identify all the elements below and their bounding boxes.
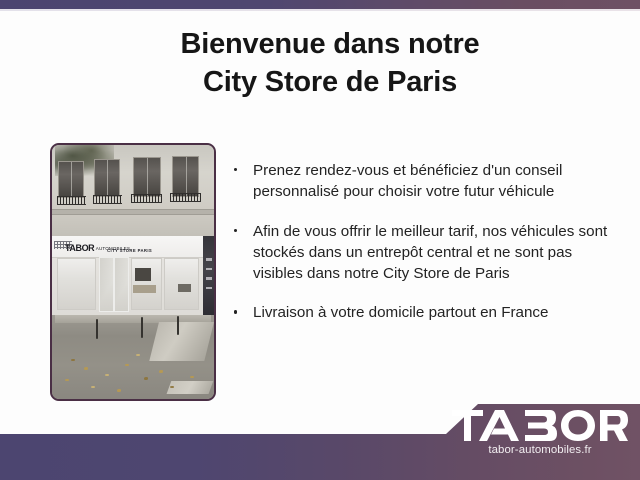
door-glass-sheen bbox=[100, 258, 113, 311]
interior-desk bbox=[133, 285, 156, 293]
window-upper-2 bbox=[94, 159, 120, 197]
page-title-line-1: Bienvenue dans notre bbox=[120, 26, 540, 64]
side-panel-mark-1 bbox=[206, 258, 212, 260]
bullet-item-2: Afin de vous offrir le meilleur tarif, n… bbox=[231, 221, 623, 285]
fallen-leaf bbox=[159, 370, 163, 373]
window-upper-3 bbox=[133, 157, 161, 197]
top-accent-hairline bbox=[0, 9, 640, 11]
side-panel-mark-3 bbox=[206, 277, 212, 279]
fallen-leaf bbox=[105, 374, 109, 377]
interior-furniture bbox=[178, 284, 191, 292]
bullet-item-1-text: Prenez rendez-vous et bénéficiez d'un co… bbox=[253, 162, 562, 200]
balcony-railing-2 bbox=[93, 195, 122, 203]
shop-door-right bbox=[114, 257, 129, 312]
street-bollard-1 bbox=[96, 319, 98, 339]
fallen-leaf bbox=[117, 389, 121, 392]
storefront-photo: TABORAUTOMOBILES CITY STORE PARIS bbox=[50, 143, 216, 401]
balcony-railing-4 bbox=[170, 193, 201, 201]
door-glass-sheen-2 bbox=[115, 258, 128, 311]
building-facade bbox=[52, 145, 214, 236]
bullet-item-1: Prenez rendez-vous et bénéficiez d'un co… bbox=[231, 160, 623, 203]
bullet-list: Prenez rendez-vous et bénéficiez d'un co… bbox=[231, 160, 623, 324]
street-bollard-2 bbox=[141, 317, 143, 338]
balcony-railing-3 bbox=[131, 194, 162, 202]
street-pavement bbox=[52, 315, 214, 399]
tabor-wordmark-icon bbox=[452, 410, 628, 441]
fallen-leaf bbox=[65, 379, 69, 382]
bullet-item-2-text: Afin de vous offrir le meilleur tarif, n… bbox=[253, 223, 607, 283]
bullet-marker-icon bbox=[234, 310, 237, 313]
street-bollard-3 bbox=[177, 316, 179, 335]
balcony-railing-1 bbox=[57, 196, 86, 204]
fallen-leaf bbox=[136, 354, 140, 357]
shop-window-left bbox=[57, 258, 96, 310]
page-title: Bienvenue dans notre City Store de Paris bbox=[120, 26, 540, 101]
top-accent-bar bbox=[0, 0, 640, 9]
fallen-leaf bbox=[190, 376, 194, 379]
fallen-leaf bbox=[91, 386, 95, 389]
shop-side-panel bbox=[203, 236, 214, 315]
interior-display-panel bbox=[135, 268, 151, 281]
page-title-line-2: City Store de Paris bbox=[120, 64, 540, 102]
brand-logo: tabor-automobiles.fr bbox=[452, 410, 628, 456]
website-url: tabor-automobiles.fr bbox=[452, 444, 628, 456]
bullet-marker-icon bbox=[234, 168, 237, 171]
fallen-leaf bbox=[144, 377, 148, 380]
bullet-item-3: Livraison à votre domicile partout en Fr… bbox=[231, 302, 623, 323]
shop-sign-brand: TABOR bbox=[65, 243, 94, 253]
facade-cornice bbox=[52, 209, 214, 215]
fallen-leaf bbox=[84, 367, 88, 370]
shop-door-left bbox=[99, 257, 114, 312]
shop-sign-band: TABORAUTOMOBILES CITY STORE PARIS bbox=[52, 236, 214, 257]
side-panel-mark-2 bbox=[206, 268, 212, 270]
window-upper-4 bbox=[172, 156, 200, 197]
slide-canvas: Bienvenue dans notre City Store de Paris bbox=[0, 0, 640, 480]
side-panel-mark-4 bbox=[206, 287, 212, 289]
shop-sign-subtitle: CITY STORE PARIS bbox=[107, 248, 152, 253]
kerb-slab bbox=[149, 322, 214, 361]
bullet-marker-icon bbox=[234, 229, 237, 232]
window-upper-1 bbox=[58, 161, 84, 198]
bullet-item-3-text: Livraison à votre domicile partout en Fr… bbox=[253, 304, 548, 321]
fallen-leaf bbox=[71, 359, 75, 362]
storefront-photo-image: TABORAUTOMOBILES CITY STORE PARIS bbox=[52, 145, 214, 399]
shopfront: TABORAUTOMOBILES CITY STORE PARIS bbox=[52, 236, 214, 315]
fallen-leaf bbox=[125, 364, 129, 367]
